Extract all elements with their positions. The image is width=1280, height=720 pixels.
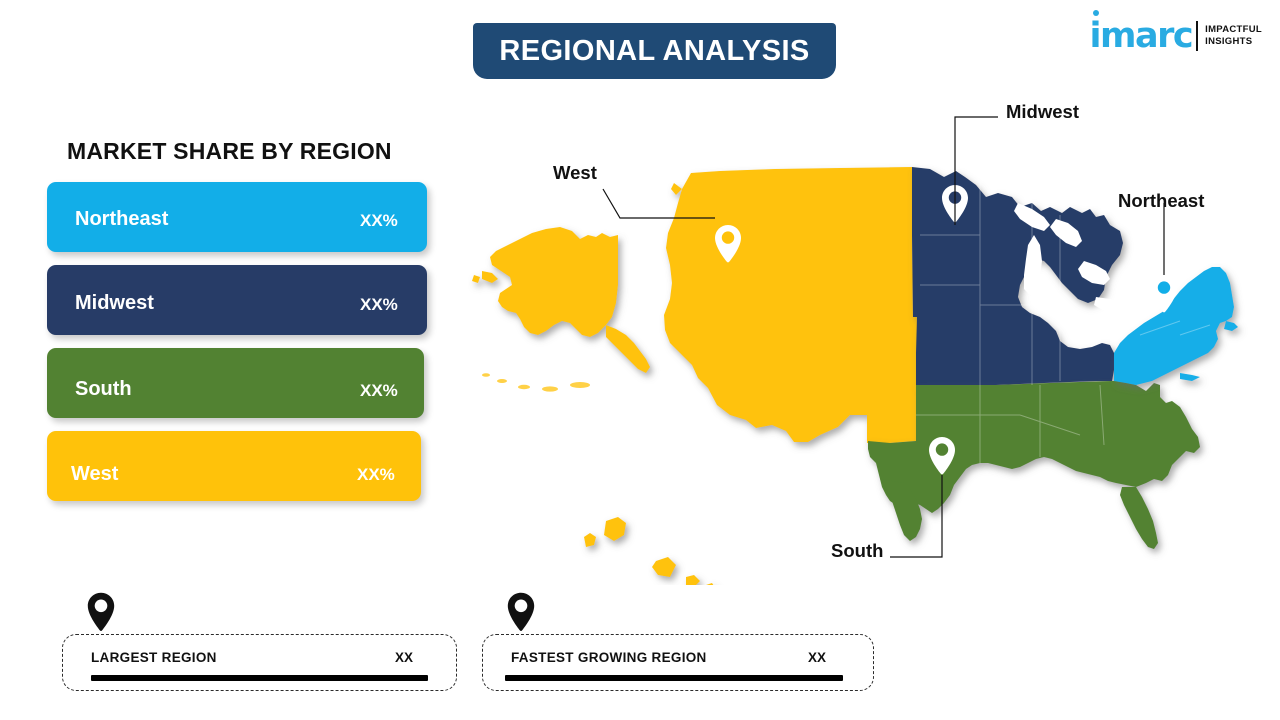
map-region-hawaii[interactable] xyxy=(584,517,716,585)
legend-item-northeast[interactable]: Northeast XX% xyxy=(47,182,427,252)
fastest-growing-region-value: XX xyxy=(808,650,826,665)
map-region-west[interactable] xyxy=(664,167,917,443)
market-share-legend: Northeast XX% Midwest XX% South XX% West… xyxy=(47,182,437,514)
legend-item-value: XX% xyxy=(360,295,398,315)
logo-wordmark-text: imarc xyxy=(1090,16,1193,56)
map-region-alaska[interactable] xyxy=(472,227,650,373)
map-region-south[interactable] xyxy=(868,381,1200,549)
map-pin-icon xyxy=(86,592,116,632)
callout-label-midwest: Midwest xyxy=(1006,101,1079,123)
legend-item-label: South xyxy=(75,378,132,401)
logo-tagline-line2: INSIGHTS xyxy=(1205,36,1252,47)
usa-map-svg xyxy=(420,85,1280,585)
fastest-growing-region-progress-track xyxy=(505,675,843,681)
fastest-growing-region-label: FASTEST GROWING REGION xyxy=(511,650,707,665)
logo-tagline-line1: IMPACTFUL xyxy=(1205,24,1262,35)
map-pin-icon xyxy=(506,592,536,632)
page-title-banner: REGIONAL ANALYSIS xyxy=(473,23,836,79)
legend-item-south[interactable]: South XX% xyxy=(47,348,424,418)
legend-item-midwest[interactable]: Midwest XX% xyxy=(47,265,427,335)
legend-item-label: Midwest xyxy=(75,292,154,315)
logo-divider xyxy=(1196,21,1198,51)
callout-label-northeast: Northeast xyxy=(1118,190,1204,212)
legend-item-value: XX% xyxy=(360,381,398,401)
largest-region-box: LARGEST REGION XX xyxy=(62,634,457,691)
legend-item-west[interactable]: West XX% xyxy=(47,431,421,501)
fastest-growing-region-panel: FASTEST GROWING REGION XX xyxy=(482,634,874,691)
market-share-heading: MARKET SHARE BY REGION xyxy=(67,138,392,165)
usa-regional-map: West Midwest Northeast South xyxy=(420,85,1280,585)
largest-region-panel: LARGEST REGION XX xyxy=(62,634,457,691)
legend-item-value: XX% xyxy=(360,211,398,231)
largest-region-progress-track xyxy=(91,675,428,681)
aleutian-islands xyxy=(482,373,590,391)
logo-tagline: IMPACTFUL INSIGHTS xyxy=(1205,24,1262,48)
legend-item-value: XX% xyxy=(357,465,395,485)
callout-label-west: West xyxy=(553,162,597,184)
largest-region-label: LARGEST REGION xyxy=(91,650,217,665)
page-title: REGIONAL ANALYSIS xyxy=(499,35,809,68)
callout-label-south: South xyxy=(831,540,883,562)
imarc-logo: imarc IMPACTFUL INSIGHTS xyxy=(1090,14,1262,58)
fastest-growing-region-box: FASTEST GROWING REGION XX xyxy=(482,634,874,691)
legend-item-label: Northeast xyxy=(75,208,168,231)
logo-wordmark: imarc xyxy=(1090,19,1193,54)
logo-dot-icon xyxy=(1093,10,1099,16)
infographic-slide: REGIONAL ANALYSIS imarc IMPACTFUL INSIGH… xyxy=(0,0,1280,720)
largest-region-value: XX xyxy=(395,650,413,665)
legend-item-label: West xyxy=(71,463,118,486)
